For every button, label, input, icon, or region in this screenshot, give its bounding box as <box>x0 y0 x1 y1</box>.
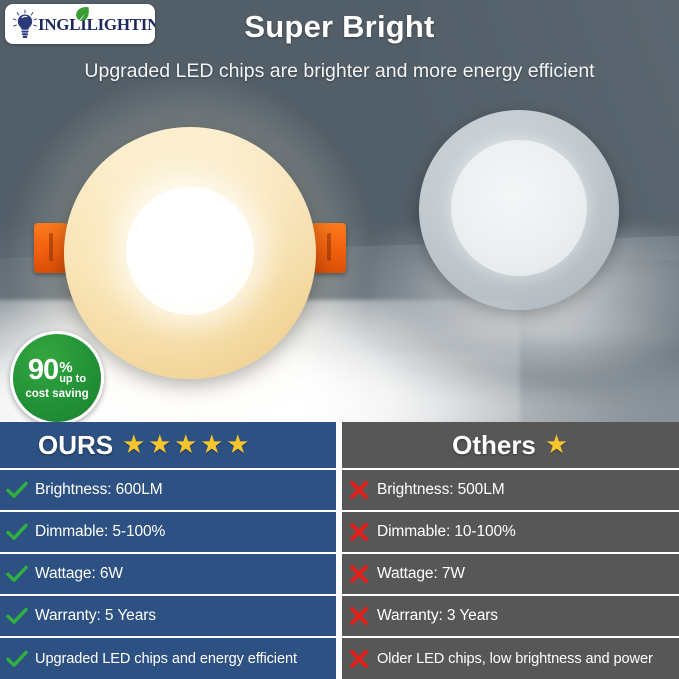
header-band: INGLILIGHTING Super Bright Upgraded LED … <box>0 0 679 100</box>
other-cell: Brightness: 500LM <box>342 470 679 510</box>
check-icon <box>4 565 30 583</box>
badge-number: 90 <box>28 356 58 385</box>
other-cell: Older LED chips, low brightness and powe… <box>342 638 679 679</box>
table-header-row: OURS ★ ★ ★ ★ ★ Others ★ <box>0 422 679 468</box>
comparison-table: OURS ★ ★ ★ ★ ★ Others ★ <box>0 422 679 679</box>
badge-up-to: up to <box>59 374 86 385</box>
table-row: Brightness: 600LM Brightness: 500LM <box>0 470 679 510</box>
star-icon: ★ <box>148 433 172 457</box>
cross-icon <box>346 522 372 542</box>
ours-cell: Wattage: 6W <box>0 554 336 594</box>
cross-icon <box>346 480 372 500</box>
column-header-ours: OURS ★ ★ ★ ★ ★ <box>0 422 336 468</box>
check-icon <box>4 607 30 625</box>
cross-icon <box>346 649 372 669</box>
ours-downlight-lens <box>126 187 254 315</box>
badge-top-line: 90 % up to <box>28 356 86 385</box>
ours-cell-text: Brightness: 600LM <box>35 481 163 499</box>
other-downlight-lens <box>451 140 587 276</box>
cross-icon <box>346 564 372 584</box>
spring-clip-icon-left <box>34 223 68 273</box>
badge-percent-group: % up to <box>59 361 86 386</box>
star-icon: ★ <box>200 433 224 457</box>
star-icon: ★ <box>174 433 198 457</box>
check-icon <box>4 650 30 668</box>
badge-caption: cost saving <box>25 388 88 400</box>
ours-star-rating: ★ ★ ★ ★ ★ <box>122 433 250 457</box>
cost-saving-badge: 90 % up to cost saving <box>10 331 104 422</box>
check-icon <box>4 523 30 541</box>
product-comparison-infographic: INGLILIGHTING Super Bright Upgraded LED … <box>0 0 679 679</box>
star-icon: ★ <box>122 433 146 457</box>
other-cell-text: Wattage: 7W <box>377 565 465 583</box>
table-row: Upgraded LED chips and energy efficient … <box>0 638 679 679</box>
page-subtitle: Upgraded LED chips are brighter and more… <box>0 60 679 83</box>
ours-downlight <box>64 127 316 379</box>
other-downlight <box>419 110 619 310</box>
table-row: Warranty: 5 Years Warranty: 3 Years <box>0 596 679 636</box>
column-header-ours-label: OURS <box>38 430 113 461</box>
ours-cell: Brightness: 600LM <box>0 470 336 510</box>
other-cell-text: Older LED chips, low brightness and powe… <box>377 651 653 667</box>
ours-cell-text: Wattage: 6W <box>35 565 123 583</box>
column-header-others: Others ★ <box>342 422 679 468</box>
table-row: Wattage: 6W Wattage: 7W <box>0 554 679 594</box>
other-cell: Dimmable: 10-100% <box>342 512 679 552</box>
star-icon: ★ <box>545 433 569 457</box>
other-cell-text: Warranty: 3 Years <box>377 607 498 625</box>
other-cell-text: Dimmable: 10-100% <box>377 523 516 541</box>
page-title: Super Bright <box>0 9 679 45</box>
ours-cell: Dimmable: 5-100% <box>0 512 336 552</box>
check-icon <box>4 481 30 499</box>
ours-cell-text: Dimmable: 5-100% <box>35 523 165 541</box>
table-row: Dimmable: 5-100% Dimmable: 10-100% <box>0 512 679 552</box>
other-cell-text: Brightness: 500LM <box>377 481 505 499</box>
ours-cell-text: Warranty: 5 Years <box>35 607 156 625</box>
ours-cell: Warranty: 5 Years <box>0 596 336 636</box>
other-cell: Warranty: 3 Years <box>342 596 679 636</box>
star-icon: ★ <box>226 433 250 457</box>
badge-percent-sign: % <box>59 361 72 375</box>
ours-cell: Upgraded LED chips and energy efficient <box>0 638 336 679</box>
spring-clip-icon-right <box>312 223 346 273</box>
column-header-others-label: Others <box>452 430 536 461</box>
cross-icon <box>346 606 372 626</box>
product-scene: INGLILIGHTING Super Bright Upgraded LED … <box>0 0 679 422</box>
ours-cell-text: Upgraded LED chips and energy efficient <box>35 651 297 667</box>
other-cell: Wattage: 7W <box>342 554 679 594</box>
others-star-rating: ★ <box>545 433 569 457</box>
